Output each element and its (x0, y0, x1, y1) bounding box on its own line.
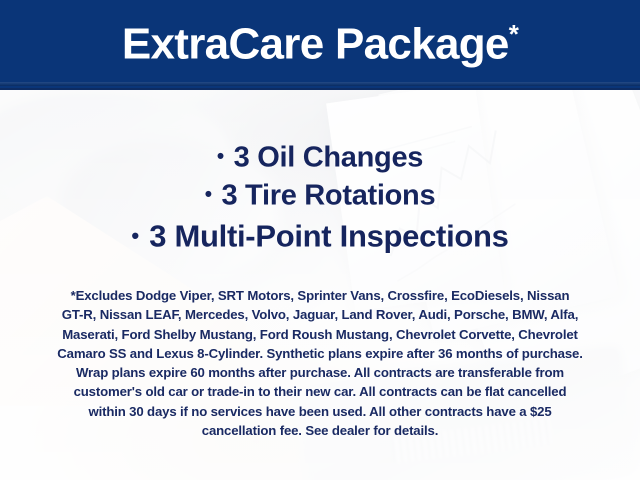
bullet-dot-icon: • (205, 183, 212, 206)
bullet-dot-icon: • (217, 145, 224, 168)
offer-list: • 3 Oil Changes • 3 Tire Rotations • 3 M… (0, 138, 640, 257)
disclaimer-line: customer's old car or trade-in to their … (28, 382, 612, 401)
header-banner: ExtraCare Package* (0, 0, 640, 90)
banner-bottom-edge (0, 82, 640, 86)
disclaimer-line: GT-R, Nissan LEAF, Mercedes, Volvo, Jagu… (28, 305, 612, 324)
disclaimer-line: within 30 days if no services have been … (28, 402, 612, 421)
list-item: • 3 Tire Rotations (0, 176, 640, 214)
disclaimer-line: Wrap plans expire 60 months after purcha… (28, 363, 612, 382)
list-item-label: 3 Oil Changes (234, 141, 424, 173)
extracare-package-ad: ExtraCare Package* • 3 Oil Changes • 3 T… (0, 0, 640, 480)
disclaimer-text: *Excludes Dodge Viper, SRT Motors, Sprin… (28, 286, 612, 440)
bullet-dot-icon: • (131, 223, 139, 248)
list-item: • 3 Multi-Point Inspections (0, 215, 640, 258)
list-item-label: 3 Tire Rotations (221, 180, 435, 212)
disclaimer-line: Maserati, Ford Shelby Mustang, Ford Rous… (28, 325, 612, 344)
page-title-text: ExtraCare Package (122, 20, 509, 69)
list-item-label: 3 Multi-Point Inspections (149, 218, 508, 253)
disclaimer-line: *Excludes Dodge Viper, SRT Motors, Sprin… (28, 286, 612, 305)
disclaimer-line: cancellation fee. See dealer for details… (28, 421, 612, 440)
disclaimer-line: Camaro SS and Lexus 8-Cylinder. Syntheti… (28, 344, 612, 363)
page-title: ExtraCare Package* (122, 21, 518, 67)
list-item: • 3 Oil Changes (0, 138, 640, 176)
title-asterisk: * (509, 19, 518, 49)
